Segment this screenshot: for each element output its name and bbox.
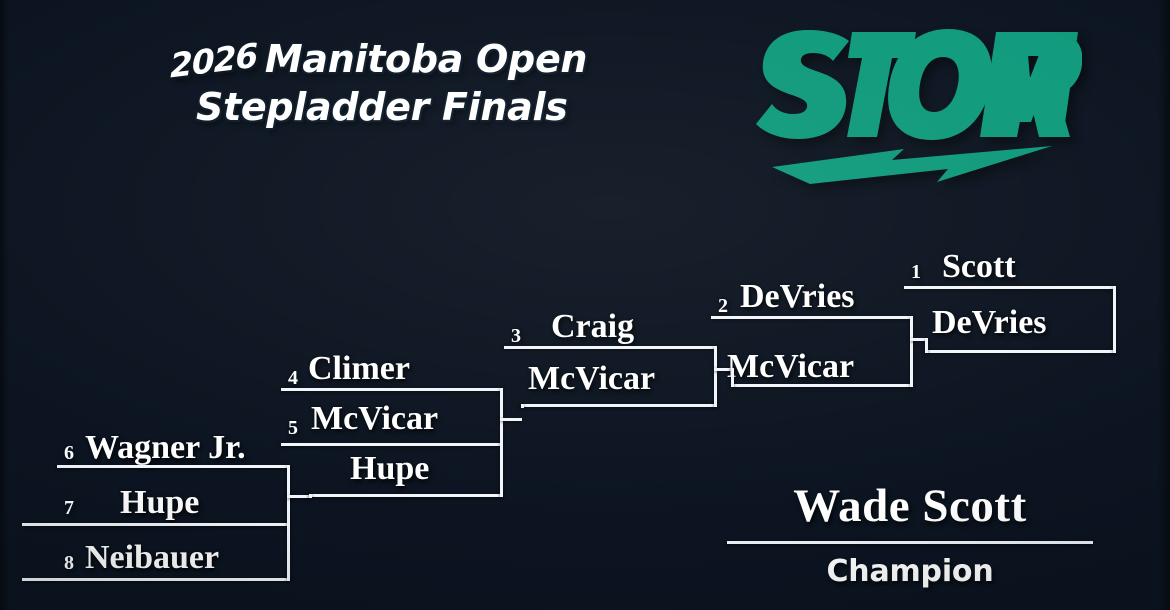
champion-label: Champion [700,555,1120,589]
bracket-line-m2-left [309,494,312,498]
champion-block: Wade Scott Champion [700,480,1120,589]
entry-scott: Scott [942,250,1016,284]
bracket-line-m1-right [287,465,290,581]
bracket-line-m2-mid [281,443,503,446]
champion-name: Wade Scott [700,480,1120,532]
bracket-line-final-left [925,338,928,353]
bracket-line-m3-right [714,346,717,407]
entry-devries-r4: DeVries [740,280,855,314]
entry-wagner-jr: Wagner Jr. [85,431,246,465]
bracket-line-m2-top [281,388,503,391]
bracket-line-m4-left [731,368,734,387]
entry-mcvicar-r2: McVicar [311,402,438,436]
bracket-line-m4-bottom [731,384,913,387]
bracket-line-m4-right [910,316,913,387]
bracket-line-m1-top [57,465,290,468]
bracket-line-m3-top [504,346,717,349]
seed-4: 4 [288,368,298,388]
bracket-connector-m2-to-m3 [500,418,522,421]
bracket-line-final-top [904,286,1116,289]
bracket-line-final-bottom [925,350,1116,353]
stepladder-finals-graphic: 2026Manitoba Open Stepladder Finals 6 [0,0,1170,610]
entry-neibauer: Neibauer [85,541,219,575]
bracket-line-m3-bottom [521,404,717,407]
seed-7: 7 [64,498,74,518]
entry-hupe-r2: Hupe [350,452,429,486]
entry-mcvicar-r3: McVicar [528,362,655,396]
bracket-line-m2-right [500,388,503,497]
bracket-connector-m1-to-m2 [287,495,309,498]
entry-craig: Craig [551,310,634,344]
entry-mcvicar-r4: McVicar [727,350,854,384]
bracket-line-final-right [1113,286,1116,353]
seed-1: 1 [911,262,921,282]
seed-2: 2 [718,296,728,316]
entry-devries-final: DeVries [932,306,1047,340]
bracket-line-m2-bottom [309,494,503,497]
seed-3: 3 [511,326,521,346]
bracket-line-m3-left [521,404,524,408]
bracket-line-m4-top [711,316,913,319]
bracket-connector-m4-to-final [910,338,926,341]
bracket-line-m1-mid [22,523,290,526]
seed-8: 8 [64,553,74,573]
entry-climer: Climer [308,352,410,386]
champion-divider [727,541,1093,544]
seed-5: 5 [288,418,298,438]
bracket-line-m1-bottom [22,578,290,581]
seed-6: 6 [64,443,74,463]
entry-hupe-r1: Hupe [120,486,199,520]
